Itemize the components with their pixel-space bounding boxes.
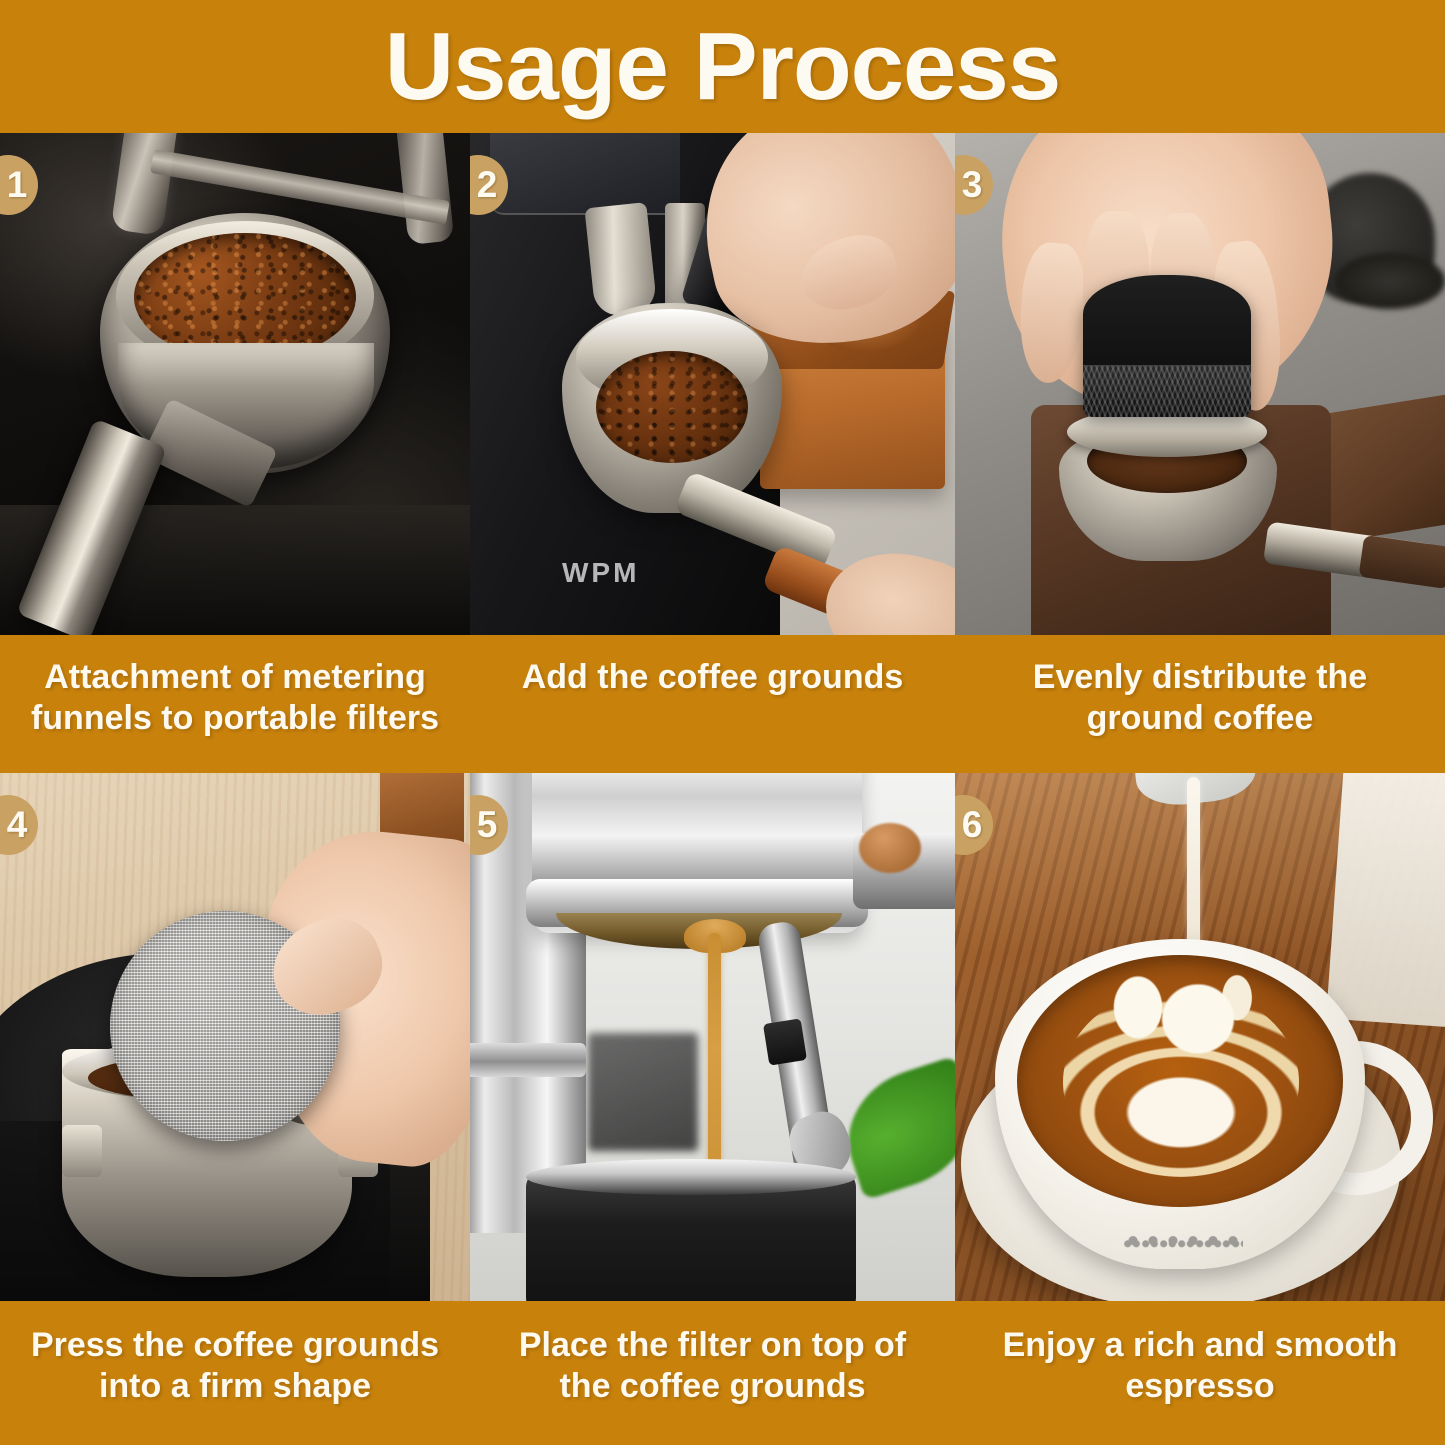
step-caption-wrap-3: Evenly distribute the ground coffee [955, 635, 1445, 773]
step-photo-6: 6 [955, 773, 1445, 1301]
step-caption-wrap-4: Press the coffee grounds into a firm sha… [0, 1301, 470, 1445]
step-caption-wrap-5: Place the filter on top of the coffee gr… [470, 1301, 955, 1445]
photo-latte-art [955, 773, 1445, 1301]
steps-grid: 1 Attachment of metering funnels to port… [0, 133, 1445, 1445]
machine-brand-text: WPM [562, 557, 682, 587]
coffee-grounds [596, 351, 748, 463]
step-caption-wrap-6: Enjoy a rich and smooth espresso [955, 1301, 1445, 1445]
step-caption-1: Attachment of metering funnels to portab… [25, 657, 445, 740]
milk-pour-stream [1187, 777, 1200, 947]
photo-espresso-extraction [470, 773, 955, 1301]
step-caption-5: Place the filter on top of the coffee gr… [503, 1325, 923, 1408]
step-card-3: 3 Evenly distribute the ground coffee [955, 133, 1445, 773]
step-caption-3: Evenly distribute the ground coffee [990, 657, 1410, 740]
step-photo-4: 4 [0, 773, 470, 1301]
step-caption-wrap-1: Attachment of metering funnels to portab… [0, 635, 470, 773]
napkin [1326, 773, 1445, 1027]
portafilter-ear-left [62, 1125, 102, 1177]
machine-column-band [470, 1043, 586, 1077]
photo-portafilter-with-grounds [0, 133, 470, 635]
steam-wand-clip [763, 1018, 807, 1065]
step-card-2: WPM 2 Add the coffee grounds [470, 133, 955, 773]
header: Usage Process [0, 0, 1445, 133]
background-blur-object [588, 1033, 698, 1151]
background-object-2 [1335, 253, 1445, 309]
step-card-1: 1 Attachment of metering funnels to port… [0, 133, 470, 773]
cup-logo [1123, 1233, 1243, 1287]
cup-rim [526, 1159, 856, 1195]
background-knob [859, 823, 921, 873]
grinder-chute [584, 202, 657, 318]
step-caption-2: Add the coffee grounds [522, 657, 904, 698]
step-photo-2: WPM 2 [470, 133, 955, 635]
distributor-knurling [1083, 365, 1251, 417]
grinder-display [490, 133, 680, 215]
step-photo-1: 1 [0, 133, 470, 635]
step-photo-5: 5 [470, 773, 955, 1301]
step-caption-4: Press the coffee grounds into a firm sha… [25, 1325, 445, 1408]
step-caption-wrap-2: Add the coffee grounds [470, 635, 955, 773]
usage-process-infographic: Usage Process 1 [0, 0, 1445, 1445]
photo-distributing-grounds [955, 133, 1445, 635]
step-photo-3: 3 [955, 133, 1445, 635]
step-card-6: 6 Enjoy a rich and smooth espresso [955, 773, 1445, 1445]
coffee-grounds [134, 233, 356, 361]
page-title: Usage Process [385, 19, 1060, 115]
step-card-4: 4 Press the coffee grounds into a firm s… [0, 773, 470, 1445]
latte-art-swan [1105, 969, 1255, 1065]
photo-adding-grounds: WPM [470, 133, 955, 635]
step-caption-6: Enjoy a rich and smooth espresso [990, 1325, 1410, 1408]
photo-puck-screen [0, 773, 470, 1301]
step-card-5: 5 Place the filter on top of the coffee … [470, 773, 955, 1445]
